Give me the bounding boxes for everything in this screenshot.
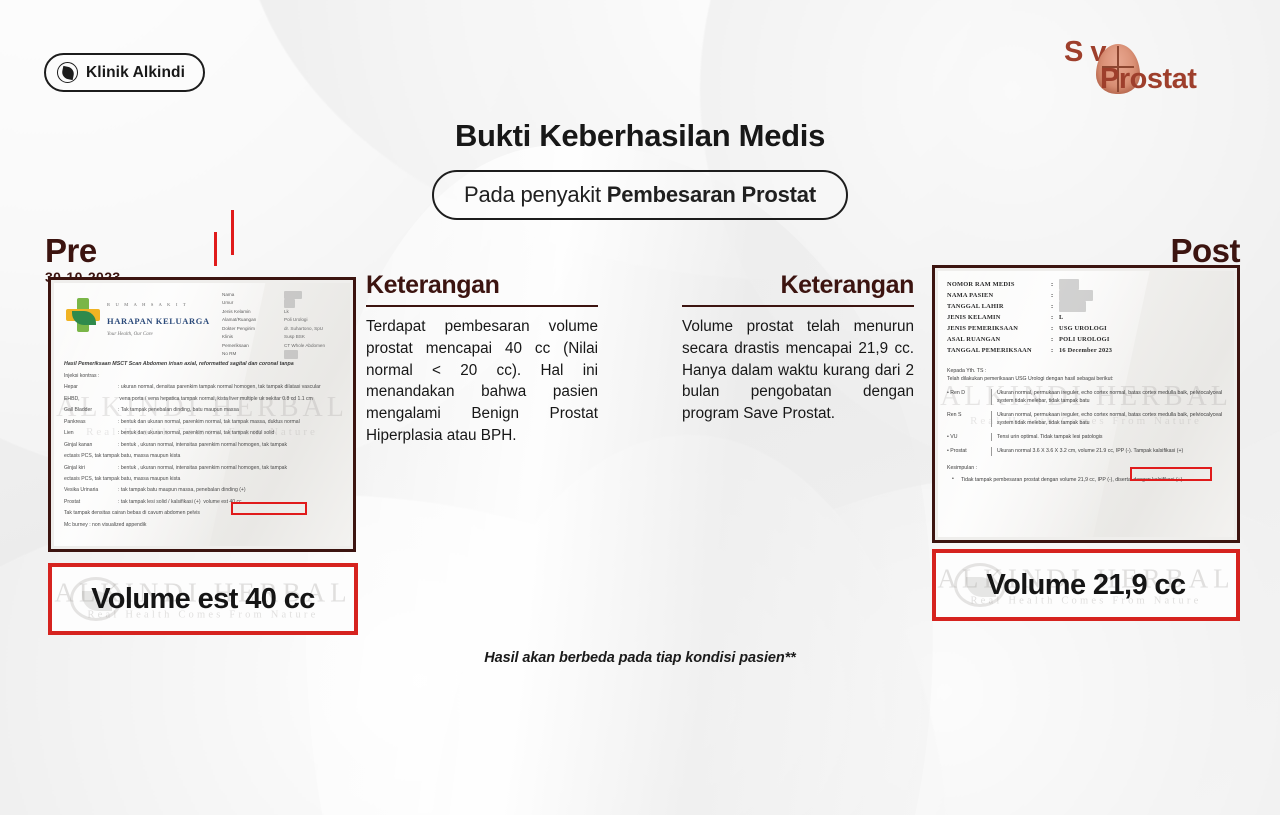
post-scan-document: ALKINDI HERBAL Real Health Comes From Na…: [932, 265, 1240, 543]
hospital-name: HARAPAN KELUARGA: [107, 316, 210, 326]
finding-line: Hepar: ukuran normal, densitas parenkim …: [64, 382, 342, 393]
post-field-value: xxxxxxxxxx: [1059, 290, 1226, 301]
post-field-value: xxxxxx: [1059, 279, 1226, 290]
finding-text: Mc burney : non visualized appendik: [64, 522, 146, 528]
finding-line: Ginjal kiri: bentuk , ukuran normal, int…: [64, 463, 342, 474]
finding-text: : bentuk dan ukuran normal, parenkim nor…: [118, 419, 300, 425]
finding-line: ectasis PCS, tak tampak batu, massa maup…: [64, 474, 342, 485]
patient-field-key: Dokter Pengirim: [222, 325, 278, 333]
patient-field-value: xxxxx: [284, 299, 325, 307]
post-field-value: xxxxxxxx: [1059, 301, 1226, 312]
patient-field-value: CT Whole Abdomen: [284, 342, 325, 350]
post-intro-line2: Telah dilakukan pemeriksaan USG Urologi …: [947, 375, 1225, 383]
post-finding-row: • VU Tensi urin optimal. Tidak tampak le…: [947, 433, 1225, 441]
patient-field-key: Umur: [222, 299, 278, 307]
post-finding-value: Ukuran normal, permukaan ireguler, echo …: [991, 411, 1225, 427]
patient-field-key: Nama: [222, 291, 278, 299]
finding-text: Tak tampak densitas cairan bebas di cavu…: [64, 510, 200, 516]
leaf-circle-icon: [57, 62, 78, 83]
keterangan-left-rule: [366, 305, 598, 307]
post-connector-line: [231, 210, 234, 255]
patient-field-value: Poli Urologi: [284, 316, 325, 324]
post-label-text: Post: [1164, 234, 1240, 267]
clinic-badge: Klinik Alkindi: [44, 53, 205, 92]
keterangan-left: Keterangan Terdapat pembesaran volume pr…: [366, 272, 598, 447]
finding-label: Vesika Urinaria: [64, 485, 118, 496]
finding-line: ectasis PCS, tak tampak batu, massa maup…: [64, 451, 342, 462]
post-finding-value: Ukuran normal 3.6 X 3.6 X 3.2 cm, volume…: [991, 447, 1225, 455]
clinic-name: Klinik Alkindi: [86, 64, 185, 82]
post-field-key: TANGGAL PEMERIKSAAN: [947, 345, 1051, 356]
finding-label: Gall Bladder: [64, 405, 118, 416]
patient-field-value: xxxxxx: [284, 350, 325, 358]
post-finding-key: Ren S: [947, 411, 991, 427]
finding-text: : bentuk , ukuran normal, intensitas par…: [118, 465, 287, 471]
finding-text: : tak tampak lesi solid / kalsifikasi (+…: [118, 499, 201, 505]
finding-text: : bentuk dan ukuran normal, parenkim nor…: [118, 430, 274, 436]
patient-field-value: Lk: [284, 308, 325, 316]
post-intro: Kepada Yth. TS : Telah dilakukan pemerik…: [947, 367, 1225, 383]
finding-line: Ginjal kanan: bentuk , ukuran normal, in…: [64, 440, 342, 451]
pre-volume-callout: ALKINDI HERBAL Real Health Comes From Na…: [48, 563, 358, 635]
post-volume-value: Volume 21,9 cc: [986, 569, 1185, 602]
keterangan-right-body: Volume prostat telah menurun secara dras…: [682, 316, 914, 425]
title-block: Bukti Keberhasilan Medis Pada penyakit P…: [0, 118, 1280, 220]
post-finding-key: • Ren D: [947, 389, 991, 405]
finding-line: Vesika Urinaria: tak tampak batu maupun …: [64, 485, 342, 496]
finding-label: Lien: [64, 428, 118, 439]
finding-label: Hepar: [64, 382, 118, 393]
post-field-value: USG UROLOGI: [1059, 323, 1226, 334]
finding-label: EHBD,: [64, 394, 118, 405]
patient-field-key: Pemeriksaan: [222, 342, 278, 350]
post-field-value: POLI UROLOGI: [1059, 334, 1226, 345]
post-field-key: JENIS PEMERIKSAAN: [947, 323, 1051, 334]
patient-field-value: dr. Suhartono, SpU: [284, 325, 325, 333]
finding-line: Mc burney : non visualized appendik: [64, 520, 342, 531]
post-finding-row: Ren S Ukuran normal, permukaan ireguler,…: [947, 411, 1225, 427]
post-field-value: L: [1059, 312, 1226, 323]
pre-volume-value: Volume est 40 cc: [91, 583, 315, 616]
finding-text: vena porta / vena hepatica tampak normal…: [118, 396, 313, 402]
finding-text: : tak tampak batu maupun massa, penebala…: [118, 487, 246, 493]
pre-scan-document: ALKINDI HERBAL Real Health Comes From Na…: [48, 277, 356, 552]
hospital-letterhead: R U M A H S A K I T HARAPAN KELUARGA You…: [66, 293, 210, 338]
post-patient-info-table: NOMOR RAM MEDIS:xxxxxx NAMA PASIEN:xxxxx…: [947, 279, 1226, 356]
post-finding-key: • Prostat: [947, 447, 991, 455]
finding-label: Ginjal kanan: [64, 440, 118, 451]
finding-text: : Tak tampak penebalan dinding, batu mau…: [118, 407, 239, 413]
keterangan-right: Keterangan Volume prostat telah menurun …: [682, 272, 914, 425]
hospital-tagline: Your Health, Our Care: [107, 332, 210, 338]
post-finding-value: Ukuran normal, permukaan ireguler, echo …: [991, 389, 1225, 405]
post-field-key: NOMOR RAM MEDIS: [947, 279, 1051, 290]
post-finding-key: • VU: [947, 433, 991, 441]
post-field-value: 16 December 2023: [1059, 345, 1226, 356]
post-field-key: NAMA PASIEN: [947, 290, 1051, 301]
patient-field-key: Jenis Kelamin: [222, 308, 278, 316]
subtitle-emphasis: Pembesaran Prostat: [607, 182, 816, 207]
post-finding-value: Tensi urin optimal. Tidak tampak lesi pa…: [991, 433, 1225, 441]
page-title: Bukti Keberhasilan Medis: [0, 118, 1280, 154]
finding-line: EHBD, vena porta / vena hepatica tampak …: [64, 394, 342, 405]
finding-text: ectasis PCS, tak tampak batu, massa maup…: [64, 453, 180, 459]
finding-label: Prostat: [64, 497, 118, 508]
pre-label-text: Pre: [45, 234, 121, 267]
finding-label: Ginjal kiri: [64, 463, 118, 474]
post-finding-row: • Ren D Ukuran normal, permukaan iregule…: [947, 389, 1225, 405]
post-volume-callout: ALKINDI HERBAL Real Health Comes From Na…: [932, 549, 1240, 621]
brand-logo-line2: Prostat: [1100, 63, 1196, 96]
post-field-key: JENIS KELAMIN: [947, 312, 1051, 323]
finding-line: Gall Bladder: Tak tampak penebalan dindi…: [64, 405, 342, 416]
post-document-highlight-box: [1130, 467, 1212, 481]
medical-cross-icon: [66, 298, 100, 332]
pre-document-highlight-box: [231, 502, 307, 515]
keterangan-left-title: Keterangan: [366, 272, 598, 298]
keterangan-right-title: Keterangan: [682, 272, 914, 298]
finding-text: ectasis PCS, tak tampak batu, massa maup…: [64, 476, 180, 482]
pre-patient-info-table: Namaxxxxxxxx Umurxxxxx Jenis KelaminLk A…: [222, 291, 325, 359]
leaf-swirl-icon: [72, 311, 96, 325]
report-heading: Hasil Pemeriksaan MSCT Scan Abdomen iris…: [64, 359, 342, 371]
post-finding-row: • Prostat Ukuran normal 3.6 X 3.6 X 3.2 …: [947, 447, 1225, 455]
hospital-name-block: R U M A H S A K I T HARAPAN KELUARGA You…: [107, 293, 210, 338]
keterangan-left-body: Terdapat pembesaran volume prostat menca…: [366, 316, 598, 446]
post-field-key: ASAL RUANGAN: [947, 334, 1051, 345]
patient-field-key: No RM: [222, 350, 278, 358]
post-field-key: TANGGAL LAHIR: [947, 301, 1051, 312]
hospital-prefix: R U M A H S A K I T: [107, 302, 188, 307]
finding-text: : bentuk , ukuran normal, intensitas par…: [118, 442, 287, 448]
finding-line: Pankreas: bentuk dan ukuran normal, pare…: [64, 417, 342, 428]
post-intro-line1: Kepada Yth. TS :: [947, 367, 1225, 375]
patient-field-key: Klinis: [222, 333, 278, 341]
subtitle-pill: Pada penyakit Pembesaran Prostat: [432, 170, 848, 220]
finding-label: Pankreas: [64, 417, 118, 428]
subtitle-prefix: Pada penyakit: [464, 182, 607, 207]
patient-field-key: Alamat/Ruangan: [222, 316, 278, 324]
patient-field-value: Susp BSK: [284, 333, 325, 341]
patient-field-value: xxxxxxxx: [284, 291, 325, 299]
pre-scan-paper: ALKINDI HERBAL Real Health Comes From Na…: [54, 283, 350, 546]
finding-text: : ukuran normal, densitas parenkim tampa…: [118, 384, 321, 390]
post-scan-paper: ALKINDI HERBAL Real Health Comes From Na…: [938, 271, 1234, 537]
keterangan-right-rule: [682, 305, 914, 307]
pre-connector-line: [214, 232, 217, 266]
report-subheading: Injeksi kontras :: [64, 371, 342, 382]
finding-line: Lien: bentuk dan ukuran normal, parenkim…: [64, 428, 342, 439]
footer-disclaimer: Hasil akan berbeda pada tiap kondisi pas…: [0, 650, 1280, 666]
brand-logo-save-prostat: S ve Prostat: [1056, 36, 1246, 102]
